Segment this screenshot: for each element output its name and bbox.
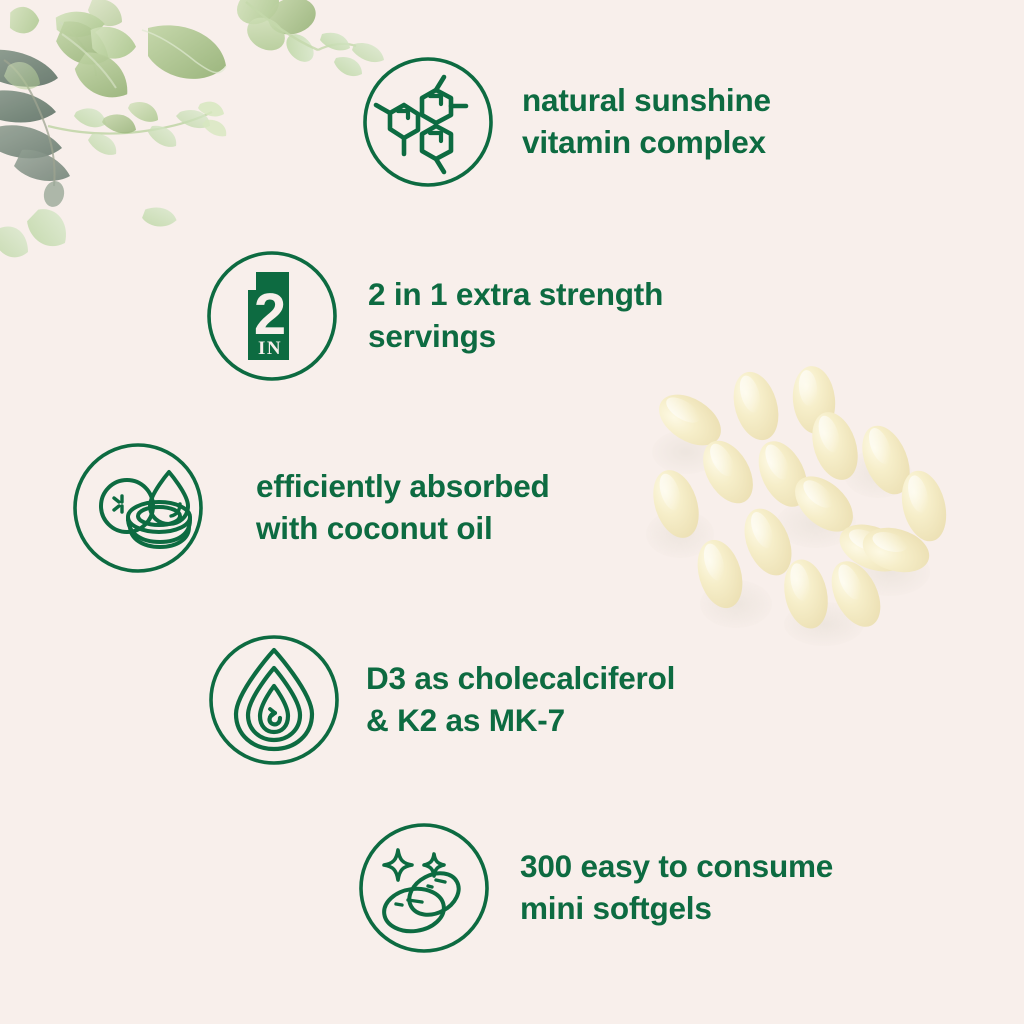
softgel-capsule — [726, 367, 786, 446]
softgel-capsule-cluster-photo — [628, 362, 968, 662]
leaf-scatter-5 — [88, 0, 122, 26]
spiral-droplet-icon — [208, 634, 340, 766]
leaf-scatter-1 — [23, 205, 72, 249]
feature-300-mini-softgels: 300 easy to consume mini softgels — [358, 822, 833, 954]
leaf-cluster-top-center — [54, 18, 138, 100]
eucalyptus-cluster-left — [0, 50, 70, 209]
molecule-hexagons-icon — [362, 56, 494, 188]
feature-label: 300 easy to consume mini softgels — [520, 846, 833, 929]
leaf-small-corner — [4, 2, 42, 38]
feature-two-in-one-extra-strength-servings: 2 IN 2 in 1 extra strength servings — [206, 250, 663, 382]
leaf-sprig-upper-left — [53, 5, 106, 76]
feature-efficiently-absorbed-with-coconut-oil: efficiently absorbed with coconut oil — [72, 442, 550, 574]
leaf-branch-middle — [48, 102, 226, 155]
feature-natural-sunshine-vitamin-complex: natural sunshine vitamin complex — [362, 56, 771, 188]
leaf-scatter-3 — [141, 205, 177, 228]
softgels-sparkle-icon — [358, 822, 490, 954]
feature-label: efficiently absorbed with coconut oil — [256, 466, 550, 549]
coconut-oil-droplet-icon — [72, 442, 204, 574]
feature-d3-cholecalciferol-k2-mk7: D3 as cholecalciferol & K2 as MK-7 — [208, 634, 675, 766]
eucalyptus-sprig-top — [231, 0, 384, 76]
feature-label: D3 as cholecalciferol & K2 as MK-7 — [366, 658, 675, 741]
leaf-scatter-2 — [0, 226, 28, 257]
product-benefits-infographic: natural sunshine vitamin complex 2 IN 2 … — [0, 0, 1024, 1024]
leaf-large-center-top — [142, 25, 226, 79]
feature-label: natural sunshine vitamin complex — [522, 80, 771, 163]
feature-label: 2 in 1 extra strength servings — [368, 274, 663, 357]
leaf-scatter-4 — [4, 62, 40, 89]
two-in-one-badge-icon: 2 IN — [206, 250, 338, 382]
badge-word: IN — [258, 338, 282, 359]
